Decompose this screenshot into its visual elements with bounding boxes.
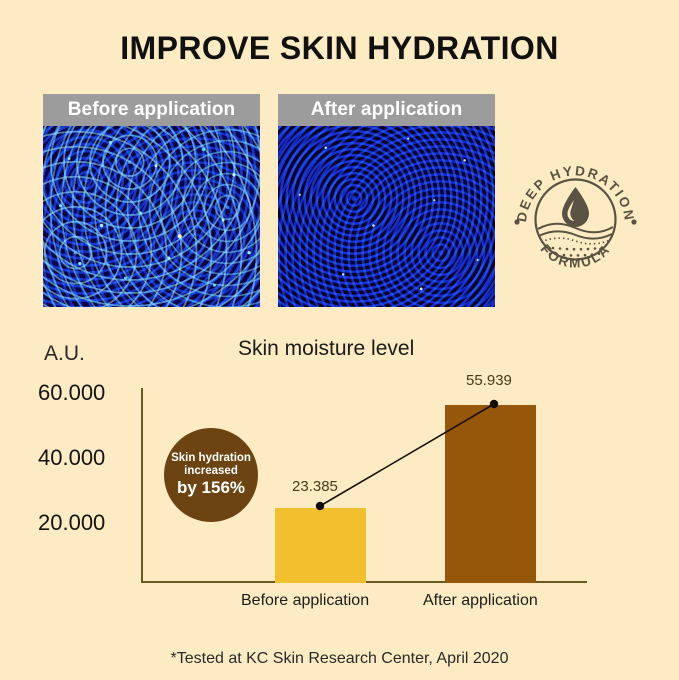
- bubble-line-3: by 156%: [177, 479, 245, 498]
- micrograph-texture-after: [278, 126, 495, 307]
- seal-bottom-text: FORMULA: [538, 241, 614, 270]
- micrograph-panel-before: Before application: [43, 94, 260, 307]
- x-label-before: Before application: [241, 592, 369, 610]
- deep-hydration-formula-seal: DEEP HYDRATION FORMULA: [508, 152, 643, 287]
- bubble-line-1: Skin hydration: [171, 452, 251, 465]
- highlight-bubble: Skin hydration increased by 156%: [164, 428, 258, 522]
- micrograph-image-before: [43, 126, 260, 307]
- micrograph-speckle-before: [43, 126, 260, 307]
- chart-footnote: *Tested at KC Skin Research Center, Apri…: [0, 650, 679, 668]
- seal-svg: DEEP HYDRATION FORMULA: [508, 152, 643, 287]
- seal-dot-right: [631, 219, 636, 224]
- y-tick-20000: 20.000: [38, 510, 138, 536]
- y-tick-60000: 60.000: [38, 380, 138, 406]
- bar-after-application[interactable]: [445, 405, 536, 583]
- y-axis-line: [141, 388, 143, 582]
- bubble-line-2: increased: [184, 465, 238, 478]
- y-axis-unit-label: A.U.: [44, 342, 85, 366]
- infographic-page: IMPROVE SKIN HYDRATION Before applicatio…: [0, 0, 679, 679]
- y-tick-40000: 40.000: [38, 445, 138, 471]
- chart: A.U. Skin moisture level 60.000 40.000 2…: [0, 320, 679, 680]
- panel-caption-after: After application: [278, 94, 495, 126]
- chart-title: Skin moisture level: [238, 337, 414, 361]
- water-droplet-icon: [562, 187, 589, 227]
- micrograph-image-after: [278, 126, 495, 307]
- x-label-after: After application: [423, 592, 538, 610]
- micrograph-panel-after: After application: [278, 94, 495, 307]
- bar-value-before: 23.385: [292, 478, 338, 495]
- bar-value-after: 55.939: [466, 372, 512, 389]
- seal-dot-left: [514, 219, 519, 224]
- trend-connector-line: [0, 320, 679, 680]
- page-title: IMPROVE SKIN HYDRATION: [0, 30, 679, 67]
- bar-before-application[interactable]: [275, 508, 366, 583]
- panel-caption-before: Before application: [43, 94, 260, 126]
